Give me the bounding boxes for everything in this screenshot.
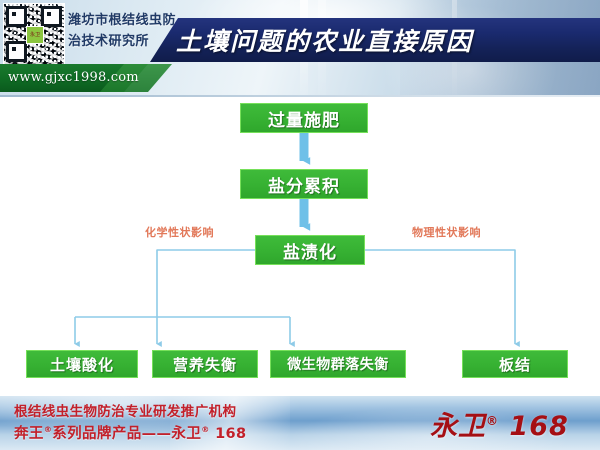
flow-node-soil-acidification[interactable]: 土壤酸化 — [26, 350, 138, 378]
flow-node-nutrient-imbalance[interactable]: 营养失衡 — [152, 350, 258, 378]
flow-node-label: 盐分累积 — [268, 172, 340, 197]
qr-code[interactable]: 永卫 — [3, 3, 65, 65]
flow-node-label: 盐渍化 — [283, 238, 337, 263]
flow-node-salinization[interactable]: 盐渍化 — [255, 235, 365, 265]
brand-registered-mark-icon: ® — [486, 414, 499, 428]
qr-finder-top-left — [6, 6, 27, 27]
qr-finder-top-right — [41, 6, 62, 27]
qr-code-pattern: 永卫 — [4, 4, 64, 64]
flow-node-overfertilization[interactable]: 过量施肥 — [240, 103, 368, 133]
flow-node-label: 板结 — [499, 354, 531, 375]
flow-node-label: 土壤酸化 — [50, 354, 114, 375]
flow-node-label: 营养失衡 — [173, 354, 237, 375]
registered-mark-icon-2: ® — [201, 425, 209, 434]
footer-product-brand: 奔王 — [14, 426, 44, 442]
footer-product-line: 奔王®系列品牌产品——永卫® 168 — [14, 422, 247, 443]
qr-finder-bottom-left — [6, 41, 27, 62]
edge-label-chemical-effect: 化学性状影响 — [145, 224, 214, 240]
flow-node-compaction[interactable]: 板结 — [462, 350, 568, 378]
flow-node-label: 过量施肥 — [268, 106, 340, 131]
slide-root: 永卫 潍坊市根结线虫防治技术研究所 www.gjxc1998.com 土壤问题的… — [0, 0, 600, 450]
flow-node-label: 微生物群落失衡 — [287, 354, 389, 374]
edge-label-physical-effect: 物理性状影响 — [412, 224, 481, 240]
registered-mark-icon: ® — [44, 425, 52, 434]
qr-center-logo: 永卫 — [26, 26, 44, 44]
brand-logo-name: 永卫 — [430, 411, 486, 442]
flowchart-canvas: 过量施肥 盐分累积 盐渍化 土壤酸化 营养失衡 微生物群落失衡 板结 化学性状影… — [0, 97, 600, 396]
brand-logo-number: 168 — [509, 411, 568, 442]
footer-product-series: 系列品牌产品——永卫 — [52, 426, 201, 442]
brand-logo: 永卫® 168 — [430, 404, 569, 443]
footer-tagline: 根结线虫生物防治专业研发推广机构 — [14, 400, 236, 420]
page-title: 土壤问题的农业直接原因 — [176, 18, 600, 62]
footer-product-number: 168 — [210, 426, 247, 442]
flow-node-salt-accumulation[interactable]: 盐分累积 — [240, 169, 368, 199]
website-url[interactable]: www.gjxc1998.com — [8, 64, 139, 92]
flow-node-microbial-imbalance[interactable]: 微生物群落失衡 — [270, 350, 406, 378]
